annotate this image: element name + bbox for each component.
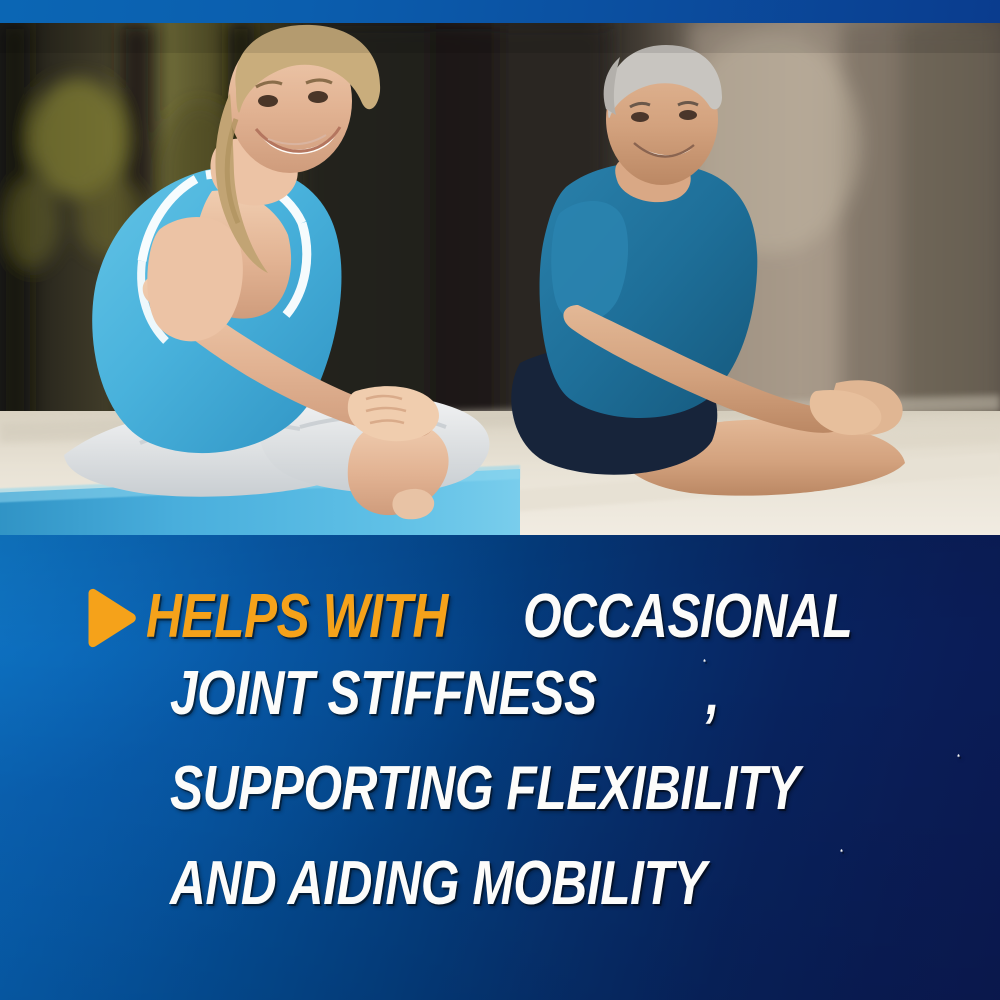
photo-illustration xyxy=(0,23,1000,535)
headline-line-4: AND AIDING MOBILITY * xyxy=(0,853,1000,948)
promo-banner: HELPS WITH OCCASIONAL JOINT STIFFNESS * … xyxy=(0,0,1000,1000)
headline-line-3-text: SUPPORTING FLEXIBILITY xyxy=(170,758,800,820)
headline-line-1-orange: HELPS WITH xyxy=(146,586,448,648)
headline-block: HELPS WITH OCCASIONAL JOINT STIFFNESS * … xyxy=(0,535,1000,948)
lifestyle-photo xyxy=(0,23,1000,535)
headline-line-2-comma: , xyxy=(706,663,719,725)
top-blue-band xyxy=(0,0,1000,23)
headline-line-2-text: JOINT STIFFNESS xyxy=(170,663,597,725)
headline-line-3: SUPPORTING FLEXIBILITY * xyxy=(0,758,1000,853)
headline-panel: HELPS WITH OCCASIONAL JOINT STIFFNESS * … xyxy=(0,535,1000,1000)
headline-line-2: JOINT STIFFNESS * , xyxy=(0,663,1000,758)
headline-line-4-text: AND AIDING MOBILITY xyxy=(170,853,706,915)
headline-line-1: HELPS WITH OCCASIONAL xyxy=(0,571,1000,663)
play-triangle-icon xyxy=(78,587,140,649)
headline-line-1-white: OCCASIONAL xyxy=(523,586,852,648)
